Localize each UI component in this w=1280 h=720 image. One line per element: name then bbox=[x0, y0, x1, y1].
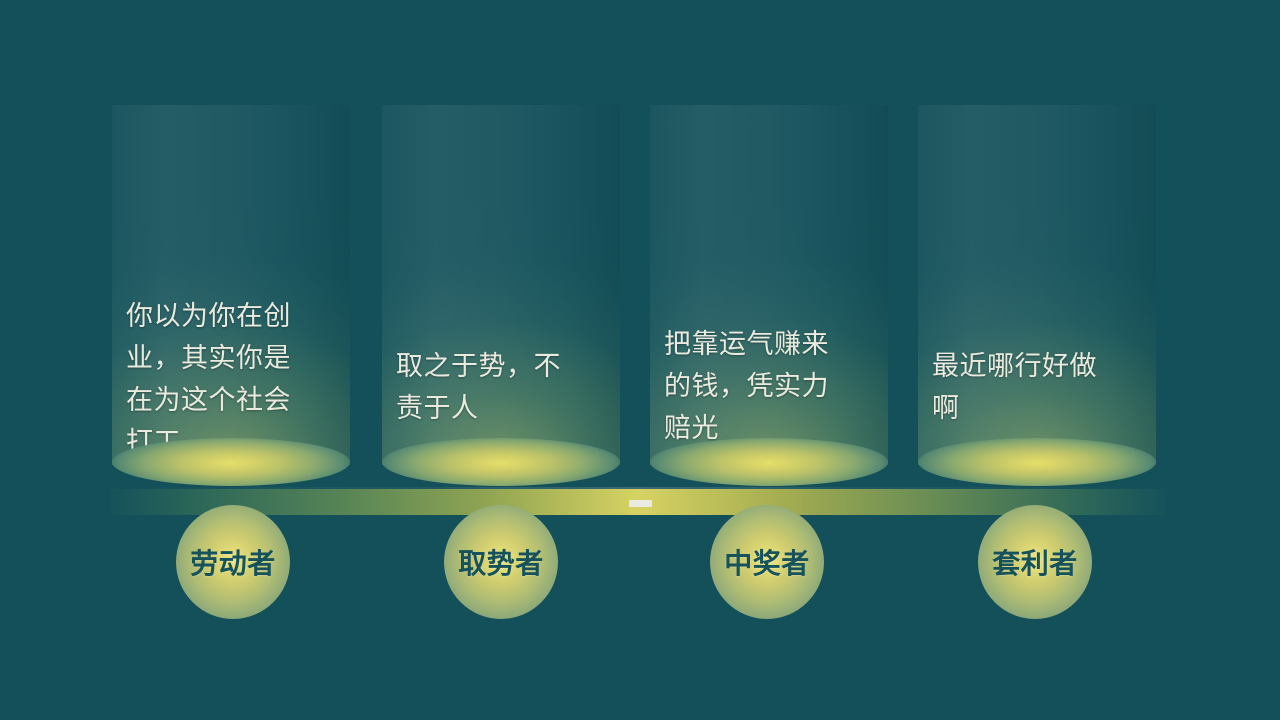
pillar-caption-3: 把靠运气赚来 的钱，凭实力 赔光 bbox=[664, 323, 878, 449]
pillar-glow-4 bbox=[918, 438, 1156, 486]
pillar-caption-4: 最近哪行好做 啊 bbox=[932, 345, 1146, 429]
role-circle-1[interactable]: 劳动者 bbox=[176, 505, 290, 619]
pillar-glow-1 bbox=[112, 438, 350, 486]
pillar-card-3[interactable]: 把靠运气赚来 的钱，凭实力 赔光 bbox=[650, 105, 888, 465]
role-label-4: 套利者 bbox=[992, 542, 1078, 582]
beam-center-marker bbox=[629, 500, 652, 507]
pillar-card-1[interactable]: 你以为你在创 业，其实你是 在为这个社会 打工 bbox=[112, 105, 350, 465]
pillar-glow-3 bbox=[650, 438, 888, 486]
pillar-card-4[interactable]: 最近哪行好做 啊 bbox=[918, 105, 1156, 465]
pillar-caption-2: 取之于势，不 责于人 bbox=[396, 345, 610, 429]
role-circle-4[interactable]: 套利者 bbox=[978, 505, 1092, 619]
role-label-1: 劳动者 bbox=[190, 542, 276, 582]
role-label-3: 中奖者 bbox=[724, 542, 810, 582]
role-circle-3[interactable]: 中奖者 bbox=[710, 505, 824, 619]
slide-canvas: 你以为你在创 业，其实你是 在为这个社会 打工 取之于势，不 责于人 把靠运气赚… bbox=[0, 0, 1280, 720]
pillar-card-2[interactable]: 取之于势，不 责于人 bbox=[382, 105, 620, 465]
role-label-2: 取势者 bbox=[458, 542, 544, 582]
role-circle-2[interactable]: 取势者 bbox=[444, 505, 558, 619]
pillar-glow-2 bbox=[382, 438, 620, 486]
